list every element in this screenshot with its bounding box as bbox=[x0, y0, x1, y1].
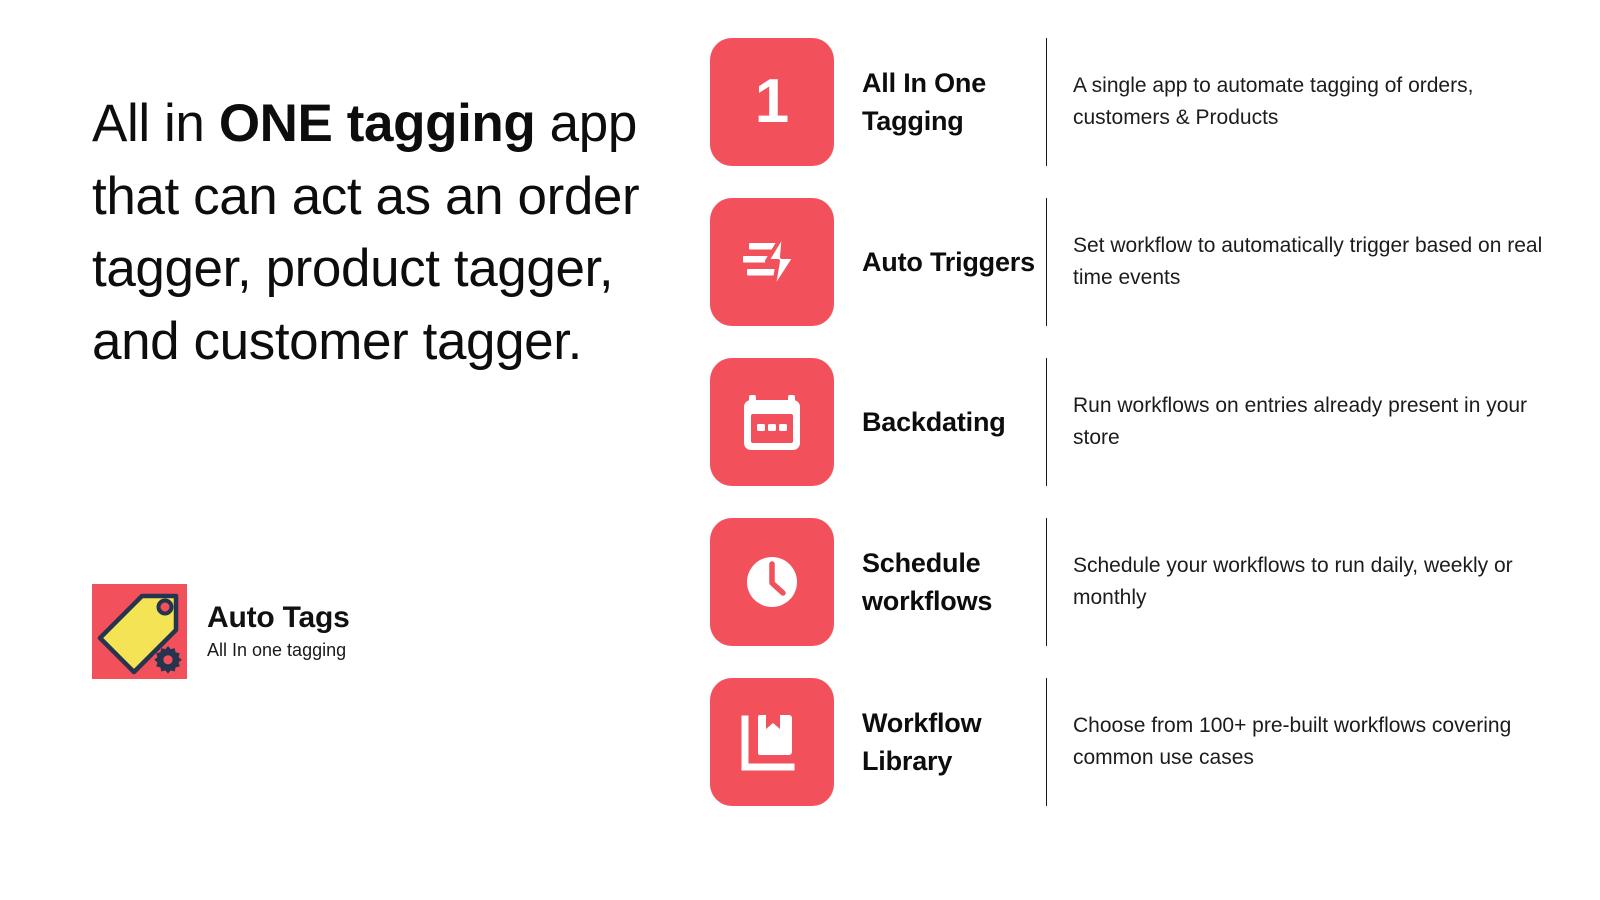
feature-row: 1 All In One Tagging A single app to aut… bbox=[710, 38, 1570, 166]
headline-emphasis: ONE tagging bbox=[219, 94, 536, 153]
feature-title: Workflow Library bbox=[834, 678, 1046, 806]
feature-description: Run workflows on entries already present… bbox=[1047, 358, 1570, 486]
headline-part-1: All in bbox=[92, 94, 219, 153]
feature-row: Workflow Library Choose from 100+ pre-bu… bbox=[710, 678, 1570, 806]
feature-list: 1 All In One Tagging A single app to aut… bbox=[710, 38, 1570, 806]
brand-lockup: Auto Tags All In one tagging bbox=[92, 584, 350, 679]
feature-number: 1 bbox=[755, 71, 789, 133]
brand-name: Auto Tags bbox=[207, 601, 350, 636]
promo-page: All in ONE tagging app that can act as a… bbox=[0, 0, 1600, 900]
clock-icon bbox=[710, 518, 834, 646]
feature-title: Schedule workflows bbox=[834, 518, 1046, 646]
price-tag-gear-icon bbox=[92, 584, 187, 679]
feature-description: A single app to automate tagging of orde… bbox=[1047, 38, 1570, 166]
page-title: All in ONE tagging app that can act as a… bbox=[92, 88, 652, 378]
lightning-bolt-lines-icon bbox=[710, 198, 834, 326]
brand-text-block: Auto Tags All In one tagging bbox=[207, 601, 350, 662]
hero-section: All in ONE tagging app that can act as a… bbox=[92, 88, 652, 378]
book-library-icon bbox=[710, 678, 834, 806]
calendar-icon bbox=[710, 358, 834, 486]
brand-tagline: All In one tagging bbox=[207, 640, 350, 662]
feature-title: Auto Triggers bbox=[834, 198, 1046, 326]
feature-row: Schedule workflows Schedule your workflo… bbox=[710, 518, 1570, 646]
feature-title: All In One Tagging bbox=[834, 38, 1046, 166]
feature-row: Auto Triggers Set workflow to automatica… bbox=[710, 198, 1570, 326]
feature-description: Set workflow to automatically trigger ba… bbox=[1047, 198, 1570, 326]
feature-row: Backdating Run workflows on entries alre… bbox=[710, 358, 1570, 486]
number-one-icon: 1 bbox=[710, 38, 834, 166]
feature-title: Backdating bbox=[834, 358, 1046, 486]
feature-description: Schedule your workflows to run daily, we… bbox=[1047, 518, 1570, 646]
feature-description: Choose from 100+ pre-built workflows cov… bbox=[1047, 678, 1570, 806]
